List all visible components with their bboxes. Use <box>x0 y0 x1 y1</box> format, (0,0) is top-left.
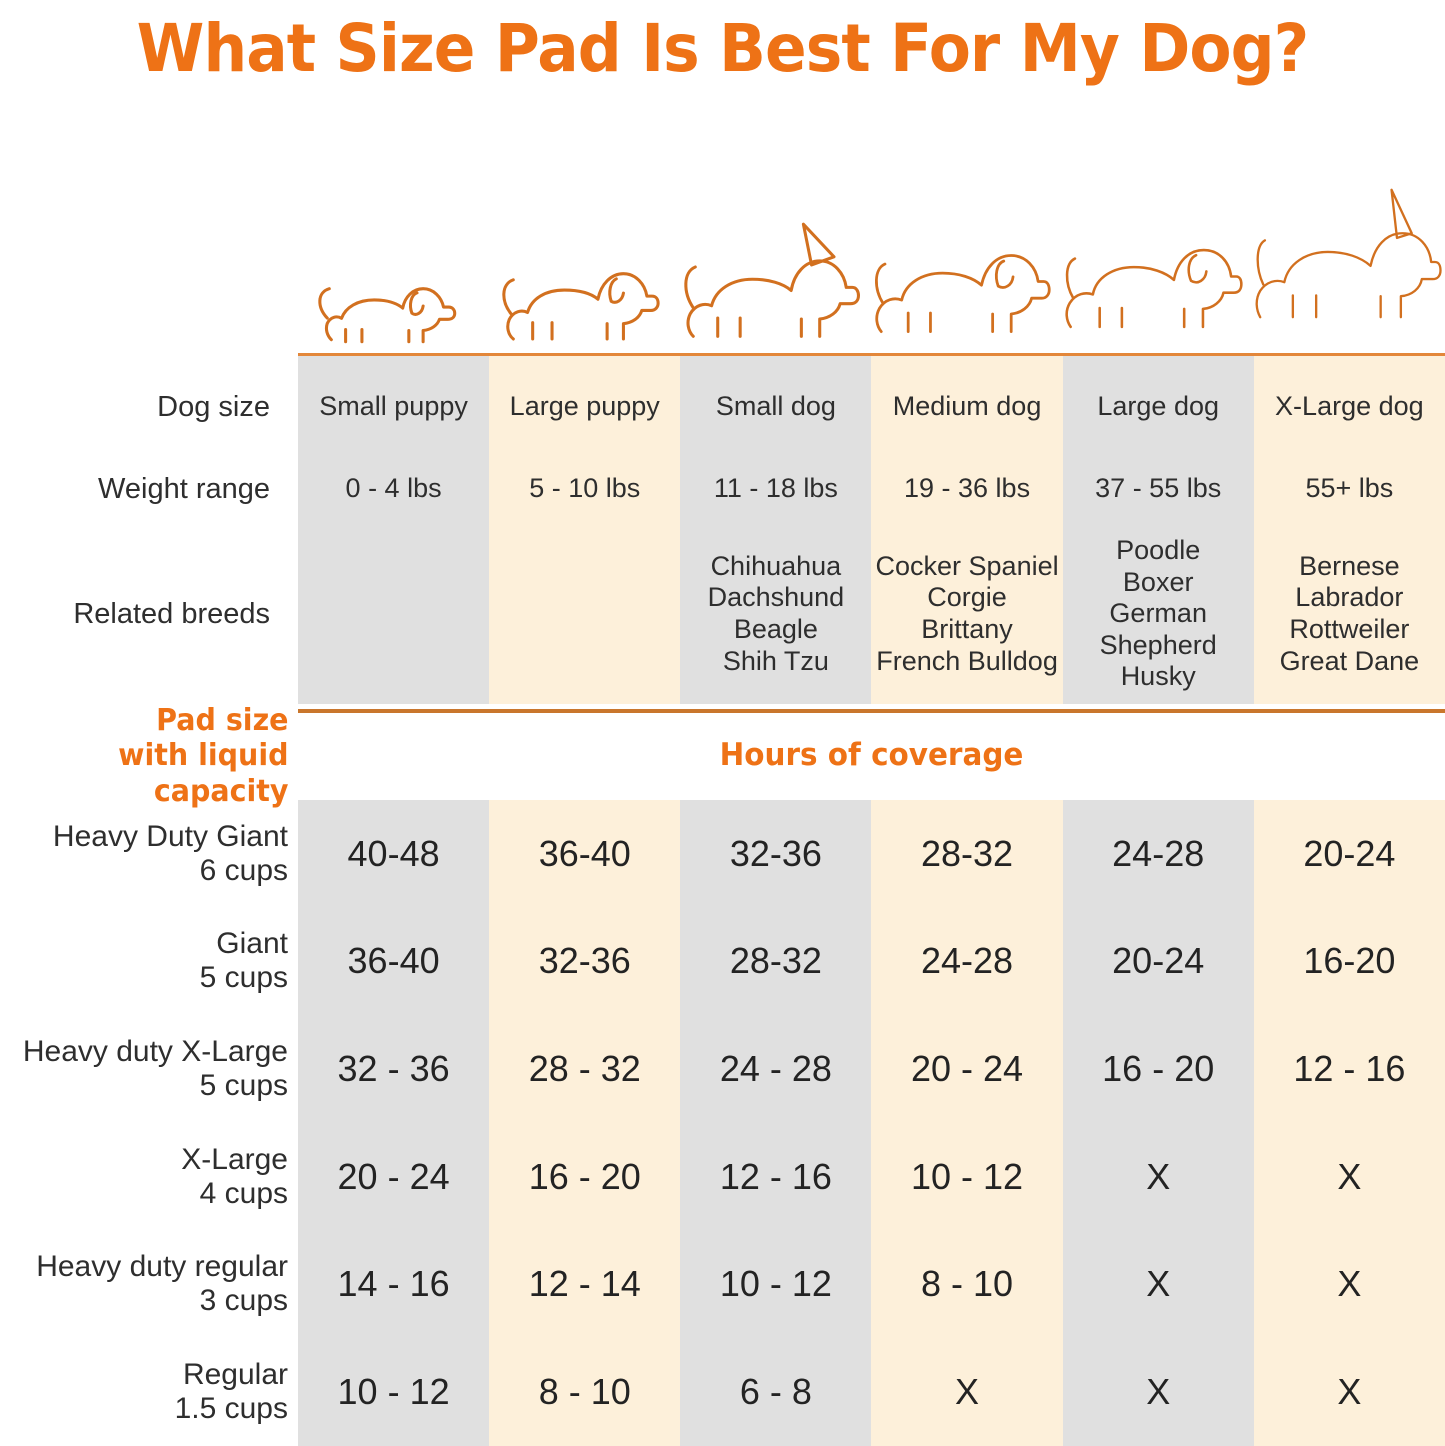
coverage-cell: 32-36 <box>489 908 680 1016</box>
cell-breeds-4: Cocker Spaniel Corgie Brittany French Bu… <box>871 534 1062 694</box>
table-row: Regular1.5 cups10 - 128 - 106 - 8XXX <box>0 1338 1445 1446</box>
cell-breeds-6: Bernese Labrador Rottweiler Great Dane <box>1254 534 1445 694</box>
cell-weight-4: 19 - 36 lbs <box>871 460 1062 518</box>
table-row: Heavy Duty Giant6 cups40-4836-4032-3628-… <box>0 800 1445 908</box>
pad-capacity: 6 cups <box>200 854 288 888</box>
pad-size-header-line2: with liquid capacity <box>15 738 289 809</box>
coverage-cell: 16 - 20 <box>489 1123 680 1231</box>
coverage-cell: X <box>871 1338 1062 1446</box>
dog-medium-dog-icon <box>872 208 1063 356</box>
row-label-pad-size: Regular1.5 cups <box>0 1338 298 1446</box>
pad-size-header: Pad size with liquid capacity <box>15 714 298 798</box>
table-row-weight-range: Weight range 0 - 4 lbs 5 - 10 lbs 11 - 1… <box>0 460 1445 518</box>
pad-capacity: 3 cups <box>200 1284 288 1318</box>
coverage-cell: 28-32 <box>680 908 871 1016</box>
coverage-cell: 8 - 10 <box>871 1231 1062 1339</box>
page-title: What Size Pad Is Best For My Dog? <box>51 0 1395 96</box>
cell-weight-2: 5 - 10 lbs <box>489 460 680 518</box>
row-label-weight-range: Weight range <box>0 460 298 518</box>
cell-dog-size-1: Small puppy <box>298 378 489 436</box>
coverage-cell: 36-40 <box>298 908 489 1016</box>
cell-dog-size-3: Small dog <box>680 378 871 436</box>
cell-dog-size-4: Medium dog <box>871 378 1062 436</box>
pad-name: Heavy duty regular <box>36 1250 288 1284</box>
table-row: Giant5 cups36-4032-3628-3224-2820-2416-2… <box>0 908 1445 1016</box>
coverage-cell: 28-32 <box>871 800 1062 908</box>
dog-xlarge-dog-icon <box>1254 162 1445 356</box>
coverage-cell: X <box>1254 1338 1445 1446</box>
dog-small-puppy-icon <box>298 252 489 356</box>
coverage-cell: 16 - 20 <box>1063 1015 1254 1123</box>
cell-breeds-5: Poodle Boxer German Shepherd Husky <box>1063 534 1254 694</box>
row-label-pad-size: Heavy Duty Giant6 cups <box>0 800 298 908</box>
cell-weight-3: 11 - 18 lbs <box>680 460 871 518</box>
dog-size-table: Dog size Small puppy Large puppy Small d… <box>0 356 1445 704</box>
dog-large-puppy-icon <box>489 237 680 356</box>
table-row-dog-size: Dog size Small puppy Large puppy Small d… <box>0 378 1445 436</box>
cell-weight-6: 55+ lbs <box>1254 460 1445 518</box>
pad-name: Heavy duty X-Large <box>23 1035 288 1069</box>
coverage-cell: 6 - 8 <box>680 1338 871 1446</box>
pad-capacity: 5 cups <box>200 961 288 995</box>
table-row: X-Large4 cups20 - 2416 - 2012 - 1610 - 1… <box>0 1123 1445 1231</box>
row-label-pad-size: X-Large4 cups <box>0 1123 298 1231</box>
coverage-cell: 32-36 <box>680 800 871 908</box>
cell-dog-size-5: Large dog <box>1063 378 1254 436</box>
pad-size-header-line1: Pad size <box>156 703 288 738</box>
coverage-cell: 24-28 <box>1063 800 1254 908</box>
coverage-cell: 36-40 <box>489 800 680 908</box>
coverage-cell: 24 - 28 <box>680 1015 871 1123</box>
pad-capacity: 5 cups <box>200 1069 288 1103</box>
coverage-cell: 10 - 12 <box>680 1231 871 1339</box>
pad-name: X-Large <box>181 1143 288 1177</box>
dog-large-dog-icon <box>1063 196 1254 356</box>
coverage-cell: 20-24 <box>1254 800 1445 908</box>
coverage-cell: 10 - 12 <box>298 1338 489 1446</box>
coverage-cell: 12 - 16 <box>680 1123 871 1231</box>
hours-of-coverage-header: Hours of coverage <box>327 730 1417 780</box>
coverage-cell: X <box>1063 1123 1254 1231</box>
pad-name: Heavy Duty Giant <box>53 820 288 854</box>
coverage-cell: 14 - 16 <box>298 1231 489 1339</box>
cell-breeds-3: Chihuahua Dachshund Beagle Shih Tzu <box>680 534 871 694</box>
coverage-cell: 24-28 <box>871 908 1062 1016</box>
coverage-cell: 12 - 14 <box>489 1231 680 1339</box>
coverage-cell: 10 - 12 <box>871 1123 1062 1231</box>
coverage-cell: 32 - 36 <box>298 1015 489 1123</box>
coverage-cell: 40-48 <box>298 800 489 908</box>
coverage-cell: 8 - 10 <box>489 1338 680 1446</box>
coverage-cell: 12 - 16 <box>1254 1015 1445 1123</box>
coverage-cell: 28 - 32 <box>489 1015 680 1123</box>
row-label-dog-size: Dog size <box>0 378 298 436</box>
table-row: Heavy duty regular3 cups14 - 1612 - 1410… <box>0 1231 1445 1339</box>
coverage-cell: X <box>1254 1123 1445 1231</box>
cell-dog-size-2: Large puppy <box>489 378 680 436</box>
dog-small-dog-icon <box>680 216 871 356</box>
coverage-table: Heavy Duty Giant6 cups40-4836-4032-3628-… <box>0 800 1445 1446</box>
row-label-pad-size: Heavy duty regular3 cups <box>0 1231 298 1339</box>
cell-dog-size-6: X-Large dog <box>1254 378 1445 436</box>
table-row-related-breeds: Related breeds Chihuahua Dachshund Beagl… <box>0 534 1445 694</box>
cell-breeds-1 <box>298 534 489 694</box>
section-divider <box>298 709 1445 713</box>
coverage-cell: 16-20 <box>1254 908 1445 1016</box>
pad-capacity: 1.5 cups <box>175 1392 288 1426</box>
coverage-cell: X <box>1063 1231 1254 1339</box>
cell-breeds-2 <box>489 534 680 694</box>
coverage-cell: 20 - 24 <box>298 1123 489 1231</box>
coverage-cell: X <box>1254 1231 1445 1339</box>
pad-capacity: 4 cups <box>200 1177 288 1211</box>
table-row: Heavy duty X-Large5 cups32 - 3628 - 3224… <box>0 1015 1445 1123</box>
pad-name: Regular <box>183 1358 288 1392</box>
row-label-related-breeds: Related breeds <box>0 534 298 694</box>
cell-weight-1: 0 - 4 lbs <box>298 460 489 518</box>
row-label-pad-size: Heavy duty X-Large5 cups <box>0 1015 298 1123</box>
pad-name: Giant <box>216 927 288 961</box>
cell-weight-5: 37 - 55 lbs <box>1063 460 1254 518</box>
coverage-cell: X <box>1063 1338 1254 1446</box>
coverage-cell: 20 - 24 <box>871 1015 1062 1123</box>
coverage-cell: 20-24 <box>1063 908 1254 1016</box>
dog-silhouette-strip <box>298 150 1445 356</box>
row-label-pad-size: Giant5 cups <box>0 908 298 1016</box>
